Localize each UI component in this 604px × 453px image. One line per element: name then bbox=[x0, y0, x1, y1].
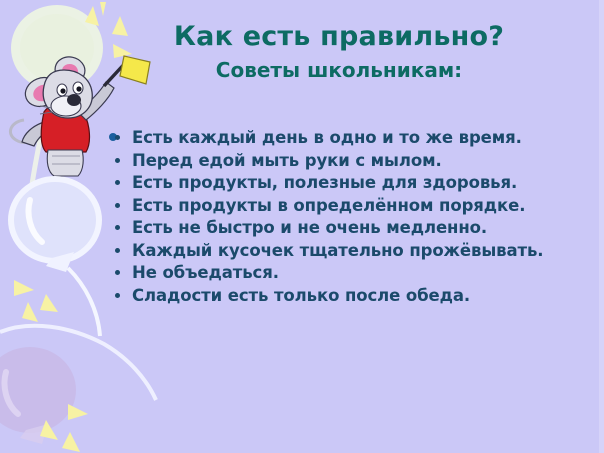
list-item: Есть каждый день в одно и то же время. bbox=[110, 127, 590, 149]
bullet-icon bbox=[115, 293, 120, 298]
confetti-rays-middle bbox=[14, 280, 58, 322]
bullet-icon bbox=[115, 180, 120, 185]
list-item-label: Есть не быстро и не очень медленно. bbox=[132, 217, 590, 239]
ribbon-swoosh bbox=[0, 326, 156, 400]
list-item-label: Перед едой мыть руки с мылом. bbox=[132, 150, 590, 172]
list-item-label: Каждый кусочек тщательно прожёвывать. bbox=[132, 240, 590, 262]
list-item: Каждый кусочек тщательно прожёвывать. bbox=[110, 240, 590, 262]
list-item-label: Есть каждый день в одно и то же время. bbox=[132, 127, 590, 149]
list-item-label: Сладости есть только после обеда. bbox=[132, 285, 590, 307]
list-item-label: Есть продукты, полезные для здоровья. bbox=[132, 172, 590, 194]
list-item: Есть продукты, полезные для здоровья. bbox=[110, 172, 590, 194]
confetti-rays-bottom bbox=[40, 404, 88, 452]
list-item-label: Есть продукты в определённом порядке. bbox=[132, 195, 590, 217]
list-item: Есть продукты в определённом порядке. bbox=[110, 195, 590, 217]
bullet-icon bbox=[115, 225, 120, 230]
tips-list: Есть каждый день в одно и то же время. П… bbox=[110, 127, 590, 307]
bullet-icon bbox=[115, 203, 120, 208]
balloon-top-icon bbox=[11, 5, 103, 200]
list-item: Сладости есть только после обеда. bbox=[110, 285, 590, 307]
list-item: Не объедаться. bbox=[110, 262, 590, 284]
balloon-middle-icon bbox=[11, 179, 100, 336]
presentation-slide: Как есть правильно? Советы школьникам: Е… bbox=[0, 0, 604, 453]
balloon-bottom-icon bbox=[0, 347, 76, 444]
slide-right-edge bbox=[599, 0, 604, 453]
bullet-icon bbox=[115, 135, 120, 140]
page-title: Как есть правильно? bbox=[104, 22, 574, 52]
list-item-label: Не объедаться. bbox=[132, 262, 590, 284]
list-item: Перед едой мыть руки с мылом. bbox=[110, 150, 590, 172]
bullet-icon bbox=[115, 248, 120, 253]
bullet-icon bbox=[115, 270, 120, 275]
bullet-icon bbox=[115, 158, 120, 163]
list-item: Есть не быстро и не очень медленно. bbox=[110, 217, 590, 239]
page-subtitle: Советы школьникам: bbox=[104, 58, 574, 82]
